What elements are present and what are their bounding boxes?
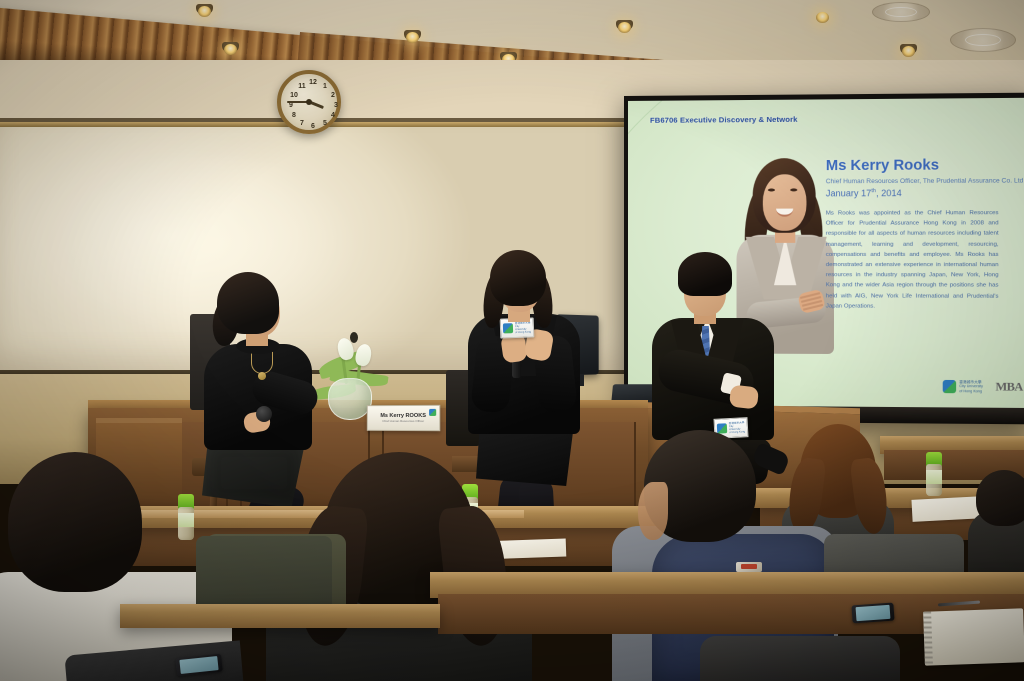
slide-date-suffix: , 2014 [876, 188, 902, 198]
flower-bud [350, 332, 358, 343]
mic-flag-line3: of Hong Kong [515, 331, 531, 335]
clock-number: 12 [308, 78, 318, 88]
portrait-smile [776, 209, 793, 217]
necklace-pendant [258, 372, 266, 380]
slide-date-prefix: January 17 [826, 188, 871, 198]
cityu-logo-text: 香港城市大學 City University of Hong Kong [959, 380, 983, 394]
name-plate: Ms Kerry ROOKS Chief Human Resources Off… [367, 405, 440, 431]
slide-biography-text: Ms Rooks was appointed as the Chief Huma… [826, 208, 999, 312]
clock-number: 11 [297, 82, 307, 92]
cityu-logo: 香港城市大學 City University of Hong Kong [943, 380, 983, 394]
hair [217, 272, 279, 334]
nameplate-logo-icon [429, 409, 436, 416]
portrait-face [763, 174, 807, 231]
notebook-spiral-rings [923, 611, 933, 665]
hand [729, 385, 759, 410]
hair [490, 250, 546, 306]
nameplate-role: Chief Human Resources Officer [382, 419, 424, 423]
cityu-logo-mark-icon [503, 323, 513, 333]
slide-course-header: FB6706 Executive Discovery & Network [650, 115, 798, 125]
clock-number: 6 [308, 122, 318, 132]
audience-desk-row2-left [120, 604, 440, 628]
clock-number: 2 [328, 91, 338, 101]
ceiling-spotlight [224, 44, 237, 55]
conference-room-scene: 12 1 2 3 4 5 6 7 8 9 10 11 FB6706 Execut… [0, 0, 1024, 681]
clock-number: 10 [289, 91, 299, 101]
spiral-notebook [923, 608, 1024, 665]
slide-date-ordinal: th [871, 188, 876, 194]
ceiling-vent [872, 2, 930, 22]
ceiling-vent [950, 28, 1016, 52]
portrait-eye-right [790, 188, 797, 191]
ceiling-spotlight [902, 46, 915, 57]
cityu-logo-mark-icon [943, 380, 956, 393]
portrait-hair-right [795, 185, 826, 258]
hair [678, 252, 732, 296]
portrait-eye-left [768, 188, 775, 191]
clock-number: 5 [320, 119, 330, 129]
phone-screen [179, 656, 218, 674]
slide-speaker-role: Chief Human Resources Officer, The Prude… [826, 177, 1024, 185]
audience-hair [976, 470, 1024, 526]
portrait-hand [797, 289, 826, 314]
slide-logo-group: 香港城市大學 City University of Hong Kong MBA [943, 379, 1023, 395]
ceiling-spotlight [816, 12, 829, 23]
wall-clock: 12 1 2 3 4 5 6 7 8 9 10 11 [277, 70, 341, 134]
microphone-flag-text: 香港城市大學 City University of Hong Kong [515, 321, 531, 334]
clock-center-pin [306, 99, 312, 105]
office-chair-back [700, 636, 900, 681]
water-bottle [926, 452, 942, 496]
clock-number: 8 [289, 111, 299, 121]
cityu-logo-line3: of Hong Kong [959, 389, 983, 394]
phone-screen [855, 605, 890, 621]
portrait-neck [775, 225, 795, 243]
audience-ear-side [638, 482, 668, 540]
slide-date: January 17th, 2014 [826, 188, 902, 198]
vest-tag-accent [741, 564, 757, 569]
cityu-logo-line1: 香港城市大學 [959, 380, 983, 385]
portrait-hair-left [741, 185, 772, 262]
cityu-logo-line2: City University [959, 384, 983, 389]
slide-speaker-name: Ms Kerry Rooks [826, 157, 939, 174]
audience-hair [8, 452, 142, 592]
smartphone [851, 603, 894, 624]
ceiling-spotlight [406, 32, 419, 43]
bottle-label [926, 470, 942, 483]
mba-logo: MBA [995, 379, 1022, 394]
handheld-microphone [256, 406, 272, 422]
clock-number: 3 [331, 101, 341, 111]
ceiling-spotlight [198, 6, 211, 17]
portrait-hair [753, 158, 816, 233]
ceiling-spotlight [618, 22, 631, 33]
